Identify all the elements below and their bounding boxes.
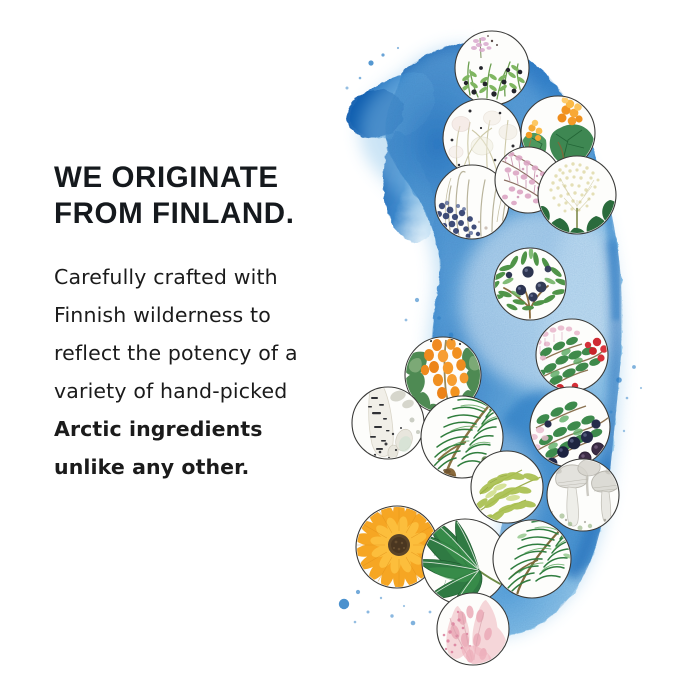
headline-line-2: FROM FINLAND. [54,197,295,230]
page-title: WE ORIGINATE FROM FINLAND. [54,160,364,232]
ingredient-circle-cotton-grass [443,99,521,178]
ingredient-circle-willowherb [495,147,561,213]
ingredient-circle-pink-fireweed [437,593,509,668]
body-line-3: reflect the potency of a [54,334,364,372]
body-line-5: Arctic ingredients [54,410,364,448]
body-line-1: Carefully crafted with [54,258,364,296]
ingredient-circle-pine-branch [421,392,508,489]
body-line-2: Finnish wilderness to [54,296,364,334]
ingredient-circle-cloudberry-leaf [471,451,544,528]
map-watercolor-body [340,30,655,650]
ingredient-circle-heather-crowberry [455,31,529,105]
body-line-6: unlike any other. [54,448,364,486]
copy-block: WE ORIGINATE FROM FINLAND. Carefully cra… [54,160,364,486]
ingredient-circle-juniper [487,247,569,320]
ingredient-circle-blueberry [529,387,610,468]
ingredient-circle-cloudberry [521,96,595,170]
ingredient-circle-lingonberry [533,319,608,396]
ingredient-circle-chaga-mushroom [547,459,620,538]
headline-line-1: WE ORIGINATE [54,161,279,194]
ingredient-circle-marigold [354,500,445,590]
ingredient-circle-bilberry-sprigs [431,165,509,239]
body-copy: Carefully crafted with Finnish wildernes… [54,258,364,486]
body-line-4: variety of hand-picked [54,372,364,410]
paint-splatter-dots [339,47,642,625]
poster-canvas: WE ORIGINATE FROM FINLAND. Carefully cra… [0,0,679,679]
ingredient-circle-elderflower [531,156,621,252]
ingredient-circle-sea-buckthorn [402,337,488,429]
ingredient-circle-hemp-leaf [416,514,508,618]
ingredient-circle-spruce-sprig [493,514,582,598]
